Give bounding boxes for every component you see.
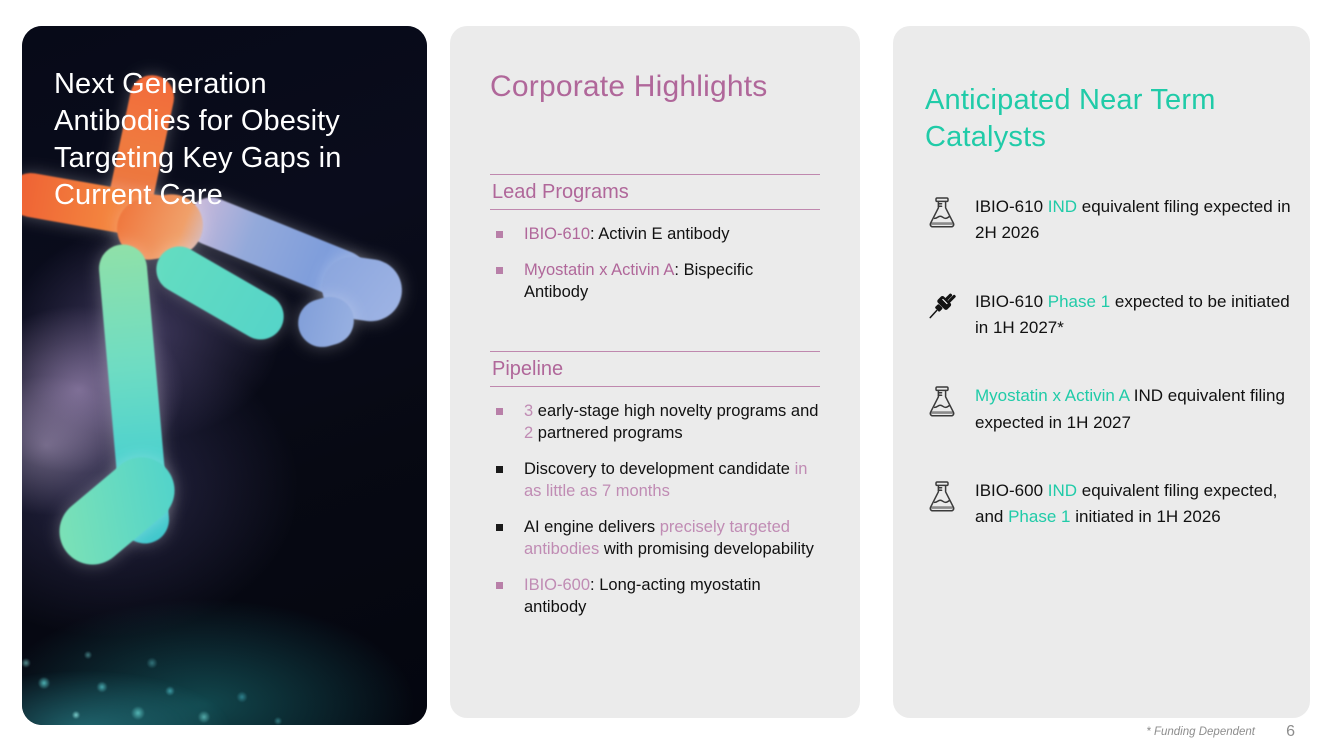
syringe-icon (919, 289, 965, 331)
pipe-2-run-2: with promising developability (599, 540, 814, 558)
list-item: IBIO-600: Long-acting myostatin antibody (490, 575, 820, 619)
flask-icon (919, 478, 965, 520)
catalyst-item-label: IBIO-610 Phase 1 expected to be initiate… (965, 289, 1291, 342)
cat-3-run-1: IND (1048, 481, 1077, 500)
section-pipeline: Pipeline 3 early-stage high novelty prog… (490, 351, 820, 619)
bullet-square-icon (496, 524, 503, 531)
hero-title: Next Generation Antibodies for Obesity T… (54, 66, 406, 214)
hero-image-card: Next Generation Antibodies for Obesity T… (22, 26, 427, 725)
list-item: IBIO-610: Activin E antibody (490, 224, 820, 246)
list-item-label: Discovery to development candidate in as… (524, 460, 807, 500)
bullet-square-icon (496, 267, 503, 274)
list-item-label: IBIO-610: Activin E antibody (524, 225, 729, 243)
lead-programs-list: IBIO-610: Activin E antibodyMyostatin x … (490, 224, 820, 304)
bullet-square-icon (496, 582, 503, 589)
cat-2-run-0: Myostatin x Activin A (975, 386, 1129, 405)
corporate-highlights-card: Corporate Highlights Lead Programs IBIO-… (450, 26, 860, 718)
list-item-label: IBIO-600: Long-acting myostatin antibody (524, 576, 761, 616)
pipeline-list: 3 early-stage high novelty programs and … (490, 401, 820, 619)
pipe-3-run-0: IBIO-600 (524, 576, 590, 594)
catalyst-item: IBIO-600 IND equivalent filing expected,… (919, 478, 1291, 531)
cat-3-run-0: IBIO-600 (975, 481, 1048, 500)
flask-icon (919, 194, 965, 236)
catalyst-item: IBIO-610 Phase 1 expected to be initiate… (919, 289, 1291, 342)
list-item: Discovery to development candidate in as… (490, 459, 820, 503)
lead-0-run-0: IBIO-610 (524, 225, 590, 243)
catalyst-item-label: Myostatin x Activin A IND equivalent fil… (965, 383, 1291, 436)
pipe-2-run-0: AI engine delivers (524, 518, 660, 536)
section-heading-pipeline: Pipeline (490, 352, 820, 386)
cat-3-run-3: Phase 1 (1008, 507, 1070, 526)
highlights-title: Corporate Highlights (490, 70, 767, 104)
cat-0-run-0: IBIO-610 (975, 197, 1048, 216)
section-lead-programs: Lead Programs IBIO-610: Activin E antibo… (490, 174, 820, 304)
cat-3-run-4: initiated in 1H 2026 (1070, 507, 1220, 526)
pipe-0-run-1: early-stage high novelty programs and (533, 402, 818, 420)
cat-0-run-1: IND (1048, 197, 1077, 216)
list-item: AI engine delivers precisely targeted an… (490, 517, 820, 561)
bullet-square-icon (496, 408, 503, 415)
catalysts-title: Anticipated Near Term Catalysts (925, 82, 1285, 156)
divider-top (490, 351, 820, 352)
list-item-label: Myostatin x Activin A: Bispecific Antibo… (524, 261, 753, 301)
catalysts-list: IBIO-610 IND equivalent filing expected … (919, 194, 1291, 573)
pipe-0-run-3: partnered programs (533, 424, 683, 442)
divider-bottom (490, 386, 820, 387)
catalyst-item: IBIO-610 IND equivalent filing expected … (919, 194, 1291, 247)
footnote: * Funding Dependent (1146, 726, 1255, 738)
catalyst-item: Myostatin x Activin A IND equivalent fil… (919, 383, 1291, 436)
divider-top (490, 174, 820, 175)
list-item: Myostatin x Activin A: Bispecific Antibo… (490, 260, 820, 304)
pipe-0-run-0: 3 (524, 402, 533, 420)
cat-1-run-1: Phase 1 (1048, 292, 1110, 311)
cat-1-run-0: IBIO-610 (975, 292, 1048, 311)
catalyst-item-label: IBIO-600 IND equivalent filing expected,… (965, 478, 1291, 531)
bullet-square-icon (496, 231, 503, 238)
lead-0-run-1: : Activin E antibody (590, 225, 729, 243)
divider-bottom (490, 209, 820, 210)
list-item-label: 3 early-stage high novelty programs and … (524, 402, 818, 442)
page-number: 6 (1286, 723, 1295, 741)
pipe-1-run-0: Discovery to development candidate (524, 460, 795, 478)
flask-icon (919, 383, 965, 425)
list-item-label: AI engine delivers precisely targeted an… (524, 518, 814, 558)
list-item: 3 early-stage high novelty programs and … (490, 401, 820, 445)
bullet-square-icon (496, 466, 503, 473)
anticipated-catalysts-card: Anticipated Near Term Catalysts IBIO-610… (893, 26, 1310, 718)
pipe-0-run-2: 2 (524, 424, 533, 442)
catalyst-item-label: IBIO-610 IND equivalent filing expected … (965, 194, 1291, 247)
section-heading-lead-programs: Lead Programs (490, 175, 820, 209)
lead-1-run-0: Myostatin x Activin A (524, 261, 674, 279)
